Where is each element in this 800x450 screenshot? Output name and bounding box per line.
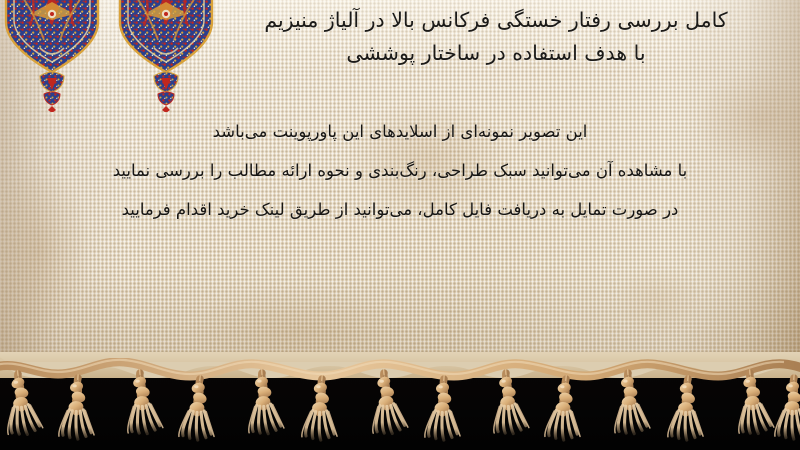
- black-backdrop-band: [0, 366, 800, 450]
- slide-body: این تصویر نمونه‌ای از اسلایدهای این پاور…: [30, 112, 770, 229]
- slide-title-line-2: با هدف استفاده در ساختار پوششی: [216, 37, 776, 70]
- slide-body-line-2: با مشاهده آن می‌توانید سبک طراحی، رنگ‌بن…: [30, 151, 770, 190]
- slide-body-line-3: در صورت تمایل به دریافت فایل کامل، می‌تو…: [30, 190, 770, 229]
- presentation-slide: کامل بررسی رفتار خستگی فرکانس بالا در آل…: [0, 0, 800, 450]
- slide-body-line-1: این تصویر نمونه‌ای از اسلایدهای این پاور…: [30, 112, 770, 151]
- slide-title-line-1: کامل بررسی رفتار خستگی فرکانس بالا در آل…: [216, 4, 776, 37]
- slide-title: کامل بررسی رفتار خستگی فرکانس بالا در آل…: [216, 4, 776, 70]
- text-layer: کامل بررسی رفتار خستگی فرکانس بالا در آل…: [0, 0, 800, 374]
